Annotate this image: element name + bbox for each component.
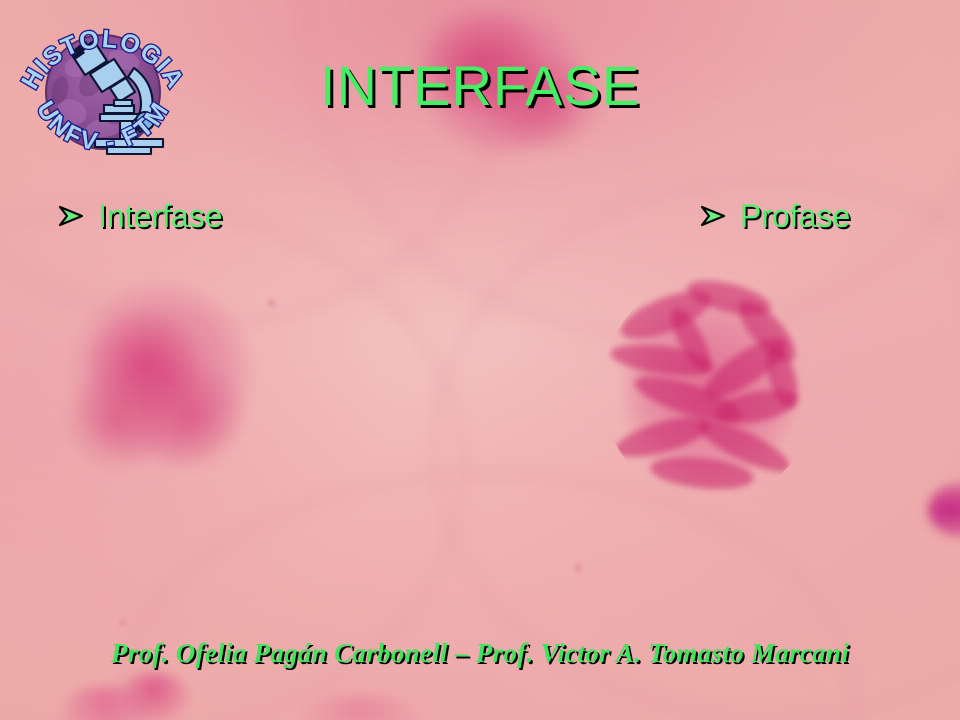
slide-canvas: HISTOLOGIA UNFV - FTM INTERFASE Interfas… [0, 0, 960, 720]
bullet-label: Profase [740, 200, 850, 232]
footer-credits: Prof. Ofelia Pagán Carbonell – Prof. Vic… [0, 640, 960, 667]
arrow-bullet-icon [700, 204, 726, 228]
bullet-label: Interfase [98, 200, 223, 232]
bullet-item-interfase: Interfase [58, 200, 223, 242]
arrow-bullet-icon [58, 204, 84, 228]
bullet-item-profase: Profase [700, 200, 850, 242]
page-title: INTERFASE [0, 58, 960, 114]
